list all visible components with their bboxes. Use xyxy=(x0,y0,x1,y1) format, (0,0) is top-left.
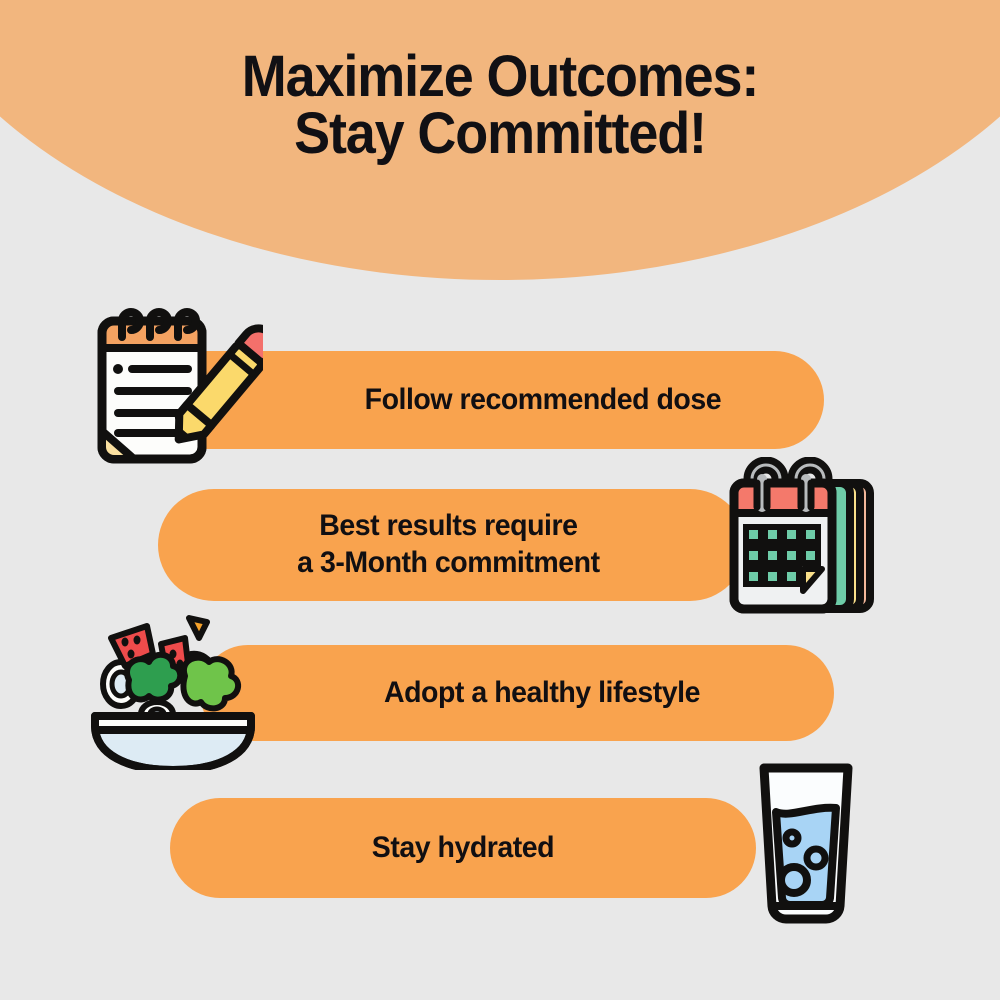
infographic-canvas: Maximize Outcomes: Stay Committed! Follo… xyxy=(0,0,1000,1000)
tip-label-3: Adopt a healthy lifestyle xyxy=(334,675,699,712)
page-title-line-2: Stay Committed! xyxy=(35,105,965,162)
tip-label-1: Follow recommended dose xyxy=(261,382,722,419)
tip-pill-2[interactable]: Best results require a 3-Month commitmen… xyxy=(158,489,746,601)
calendar-icon xyxy=(722,457,892,620)
water-glass-icon xyxy=(742,760,870,928)
page-title: Maximize Outcomes: Stay Committed! xyxy=(35,48,965,163)
tip-pill-3[interactable]: Adopt a healthy lifestyle xyxy=(200,645,834,741)
page-title-line-1: Maximize Outcomes: xyxy=(35,48,965,105)
tip-pill-4[interactable]: Stay hydrated xyxy=(170,798,756,898)
salad-bowl-icon xyxy=(85,610,260,770)
tip-label-2: Best results require a 3-Month commitmen… xyxy=(297,508,607,581)
tip-label-4: Stay hydrated xyxy=(372,830,554,867)
notepad-pencil-icon xyxy=(88,303,263,471)
